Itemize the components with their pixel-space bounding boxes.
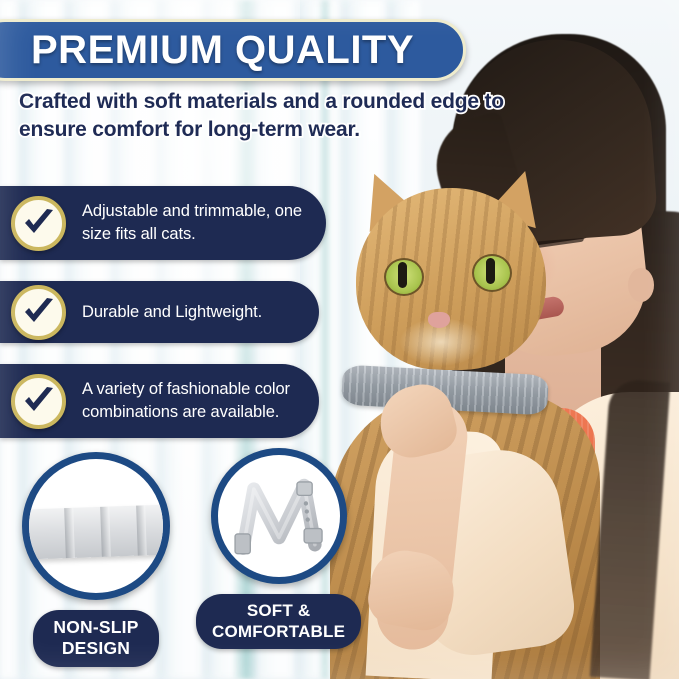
product-infographic: PREMIUM QUALITY Crafted with soft materi… xyxy=(0,0,679,679)
premium-quality-banner: PREMIUM QUALITY xyxy=(0,19,466,81)
feature-badge-soft-comfortable: SOFT & COMFORTABLE xyxy=(196,448,361,649)
strap-rib xyxy=(100,507,111,557)
adjustable-harness-image xyxy=(211,448,347,584)
feature-bullet-3: A variety of fashionable color combinati… xyxy=(0,364,319,438)
feature-bullet-2-label: Durable and Lightweight. xyxy=(82,301,262,324)
cat-pupil-right xyxy=(486,258,495,284)
non-slip-strap-image xyxy=(22,452,170,600)
strap-illustration xyxy=(22,504,170,559)
check-icon xyxy=(11,285,66,340)
feature-badge-non-slip: NON-SLIP DESIGN xyxy=(22,452,170,667)
cat-pupil-left xyxy=(398,262,407,288)
cat-nose xyxy=(428,312,450,328)
feature-badge-non-slip-label: NON-SLIP DESIGN xyxy=(33,610,158,667)
check-icon xyxy=(11,374,66,429)
subtitle-text: Crafted with soft materials and a rounde… xyxy=(19,88,539,144)
feature-bullet-1-label: Adjustable and trimmable, one size fits … xyxy=(82,200,312,246)
strap-rib xyxy=(64,508,75,558)
strap-rib xyxy=(136,505,147,555)
feature-badge-soft-comfortable-label: SOFT & COMFORTABLE xyxy=(196,594,361,649)
page-title: PREMIUM QUALITY xyxy=(31,28,414,73)
feature-bullet-1: Adjustable and trimmable, one size fits … xyxy=(0,186,326,260)
woman-ear xyxy=(628,268,654,302)
feature-bullet-list: Adjustable and trimmable, one size fits … xyxy=(0,186,340,459)
check-icon xyxy=(11,196,66,251)
harness-illustration xyxy=(218,455,340,577)
feature-bullet-3-label: A variety of fashionable color combinati… xyxy=(82,378,305,424)
feature-bullet-2: Durable and Lightweight. xyxy=(0,281,319,343)
